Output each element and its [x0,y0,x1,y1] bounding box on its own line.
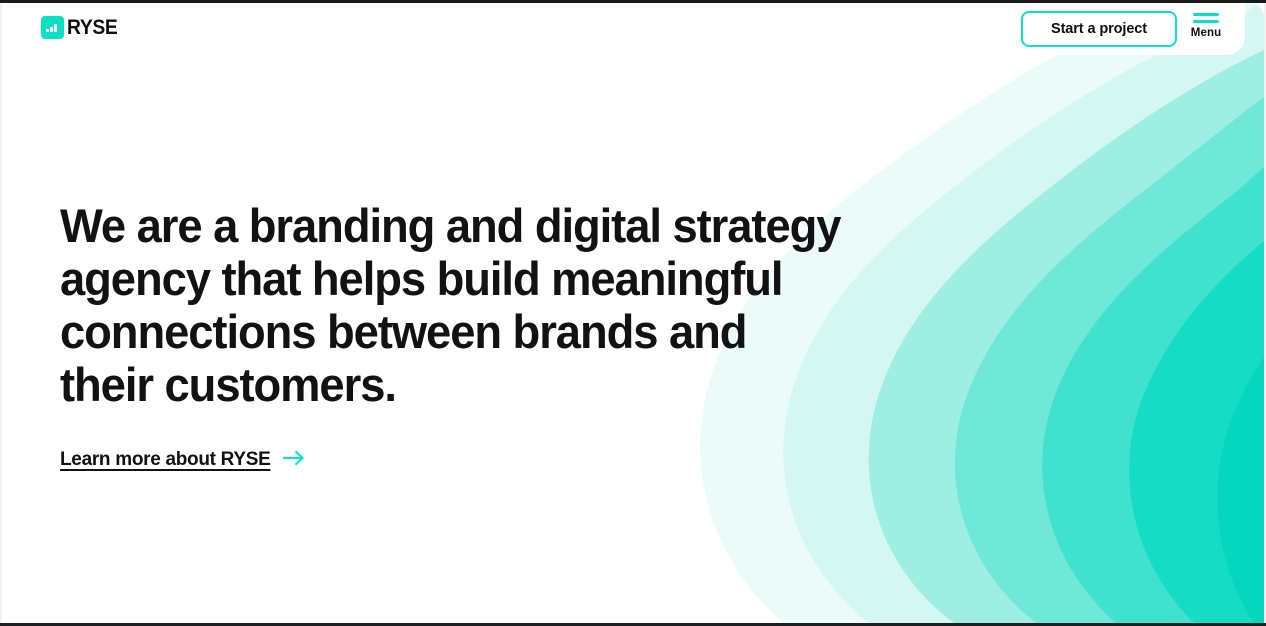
hamburger-icon [1193,13,1219,23]
brand-name: RYSE [67,17,117,38]
blob-layer-6 [1129,173,1264,623]
brand-logo[interactable]: RYSE [41,16,122,39]
window-left-edge [0,0,2,626]
menu-label: Menu [1191,28,1221,40]
hero-section: We are a branding and digital strategy a… [60,199,870,471]
start-a-project-button[interactable]: Start a project [1021,11,1177,47]
window-top-edge [0,0,1266,3]
page-canvas: RYSE Start a project Menu We are a brand… [2,3,1264,623]
arrow-right-icon [283,450,305,471]
blob-layer-4 [955,55,1264,623]
learn-more-link-label: Learn more about RYSE [60,449,270,471]
blob-layer-3 [869,13,1264,623]
site-header: RYSE Start a project Menu [22,3,1245,55]
menu-toggle-button[interactable]: Menu [1185,13,1227,40]
hero-headline: We are a branding and digital strategy a… [60,199,842,411]
learn-more-link[interactable]: Learn more about RYSE [60,449,305,471]
browser-viewport: RYSE Start a project Menu We are a brand… [0,0,1266,626]
blob-layer-7 [1217,253,1264,623]
bars-logo-icon [41,16,64,39]
blob-layer-5 [1042,103,1264,623]
